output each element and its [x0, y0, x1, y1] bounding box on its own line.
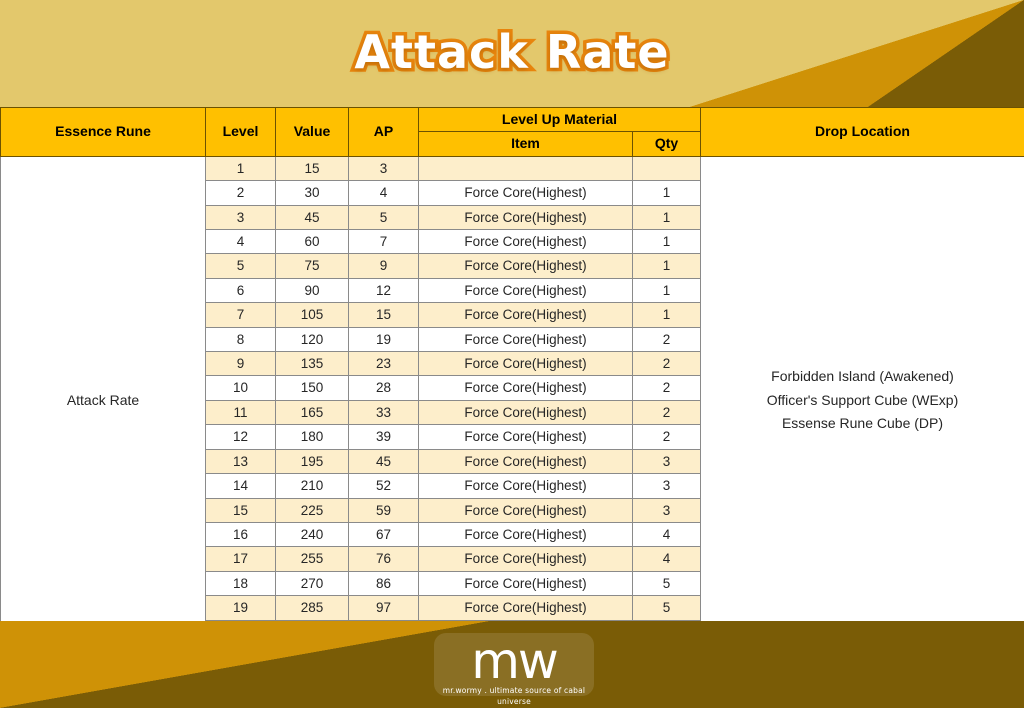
footer-logo-mark: mw	[434, 633, 594, 685]
cell-item: Force Core(Highest)	[419, 303, 633, 327]
cell-ap: 52	[349, 474, 419, 498]
cell-item: Force Core(Highest)	[419, 547, 633, 571]
footer-diagonal-accent	[0, 621, 490, 708]
cell-ap: 5	[349, 205, 419, 229]
cell-level: 17	[206, 547, 276, 571]
cell-qty: 2	[633, 352, 701, 376]
essence-rune-table: Essence Rune Level Value AP Level Up Mat…	[0, 107, 1024, 645]
cell-qty: 3	[633, 474, 701, 498]
col-header-drop-location: Drop Location	[701, 108, 1024, 157]
cell-qty: 2	[633, 400, 701, 424]
cell-qty: 4	[633, 522, 701, 546]
cell-value: 60	[276, 230, 349, 254]
cell-ap: 97	[349, 596, 419, 620]
cell-level: 15	[206, 498, 276, 522]
cell-ap: 86	[349, 571, 419, 595]
col-header-item: Item	[419, 132, 633, 156]
cell-value: 225	[276, 498, 349, 522]
cell-item: Force Core(Highest)	[419, 205, 633, 229]
cell-value: 270	[276, 571, 349, 595]
cell-value: 195	[276, 449, 349, 473]
table-header: Essence Rune Level Value AP Level Up Mat…	[1, 108, 1024, 157]
cell-level: 7	[206, 303, 276, 327]
cell-qty: 2	[633, 425, 701, 449]
cell-level: 9	[206, 352, 276, 376]
col-header-ap: AP	[349, 108, 419, 157]
cell-qty: 5	[633, 571, 701, 595]
drop-location-line: Officer's Support Cube (WExp)	[701, 389, 1024, 412]
cell-qty: 3	[633, 449, 701, 473]
cell-item: Force Core(Highest)	[419, 400, 633, 424]
cell-drop-location: Forbidden Island (Awakened)Officer's Sup…	[701, 156, 1024, 644]
cell-qty: 1	[633, 205, 701, 229]
cell-item: Force Core(Highest)	[419, 571, 633, 595]
cell-qty: 4	[633, 547, 701, 571]
cell-ap: 76	[349, 547, 419, 571]
cell-qty: 1	[633, 303, 701, 327]
cell-value: 210	[276, 474, 349, 498]
cell-level: 1	[206, 156, 276, 180]
cell-ap: 59	[349, 498, 419, 522]
col-header-qty: Qty	[633, 132, 701, 156]
cell-ap: 23	[349, 352, 419, 376]
cell-level: 14	[206, 474, 276, 498]
page-footer: mw mr.wormy . ultimate source of cabal u…	[0, 621, 1024, 708]
cell-value: 45	[276, 205, 349, 229]
cell-ap: 45	[349, 449, 419, 473]
cell-value: 165	[276, 400, 349, 424]
cell-level: 2	[206, 181, 276, 205]
cell-ap: 19	[349, 327, 419, 351]
cell-level: 18	[206, 571, 276, 595]
cell-level: 5	[206, 254, 276, 278]
cell-level: 12	[206, 425, 276, 449]
cell-item: Force Core(Highest)	[419, 181, 633, 205]
table-row: Attack Rate1153Forbidden Island (Awakene…	[1, 156, 1024, 180]
page-root: mw mr.wormy . ultimate source of cabal u…	[0, 0, 1024, 708]
cell-qty: 5	[633, 596, 701, 620]
cell-ap: 39	[349, 425, 419, 449]
cell-ap: 28	[349, 376, 419, 400]
table-container: Essence Rune Level Value AP Level Up Mat…	[0, 107, 1024, 621]
cell-ap: 15	[349, 303, 419, 327]
cell-level: 10	[206, 376, 276, 400]
cell-ap: 12	[349, 278, 419, 302]
cell-value: 255	[276, 547, 349, 571]
page-title-container: Attack Rate	[0, 25, 1024, 90]
col-header-level-up-material: Level Up Material	[419, 108, 701, 132]
cell-level: 3	[206, 205, 276, 229]
cell-item: Force Core(Highest)	[419, 352, 633, 376]
cell-level: 19	[206, 596, 276, 620]
cell-ap: 67	[349, 522, 419, 546]
col-header-level: Level	[206, 108, 276, 157]
cell-level: 16	[206, 522, 276, 546]
cell-qty: 1	[633, 181, 701, 205]
footer-logo: mw mr.wormy . ultimate source of cabal u…	[434, 633, 594, 696]
cell-item: Force Core(Highest)	[419, 376, 633, 400]
drop-location-line: Forbidden Island (Awakened)	[701, 365, 1024, 388]
cell-ap: 3	[349, 156, 419, 180]
cell-value: 15	[276, 156, 349, 180]
cell-ap: 4	[349, 181, 419, 205]
drop-location-line: Essense Rune Cube (DP)	[701, 412, 1024, 435]
cell-item: Force Core(Highest)	[419, 425, 633, 449]
cell-item: Force Core(Highest)	[419, 474, 633, 498]
col-header-essence-rune: Essence Rune	[1, 108, 206, 157]
header-row-1: Essence Rune Level Value AP Level Up Mat…	[1, 108, 1024, 132]
cell-value: 150	[276, 376, 349, 400]
page-title: Attack Rate	[354, 25, 669, 79]
cell-level: 11	[206, 400, 276, 424]
cell-item: Force Core(Highest)	[419, 596, 633, 620]
cell-qty: 3	[633, 498, 701, 522]
cell-ap: 33	[349, 400, 419, 424]
cell-value: 105	[276, 303, 349, 327]
cell-value: 90	[276, 278, 349, 302]
cell-qty: 1	[633, 230, 701, 254]
footer-logo-tagline: mr.wormy . ultimate source of cabal univ…	[434, 685, 594, 707]
cell-value: 240	[276, 522, 349, 546]
cell-item	[419, 156, 633, 180]
cell-qty: 2	[633, 327, 701, 351]
cell-value: 120	[276, 327, 349, 351]
cell-level: 13	[206, 449, 276, 473]
cell-qty: 1	[633, 278, 701, 302]
cell-ap: 7	[349, 230, 419, 254]
cell-item: Force Core(Highest)	[419, 498, 633, 522]
table-body: Attack Rate1153Forbidden Island (Awakene…	[1, 156, 1024, 644]
cell-value: 30	[276, 181, 349, 205]
cell-value: 180	[276, 425, 349, 449]
cell-item: Force Core(Highest)	[419, 327, 633, 351]
cell-item: Force Core(Highest)	[419, 230, 633, 254]
col-header-value: Value	[276, 108, 349, 157]
cell-ap: 9	[349, 254, 419, 278]
cell-qty: 2	[633, 376, 701, 400]
cell-qty	[633, 156, 701, 180]
cell-item: Force Core(Highest)	[419, 278, 633, 302]
cell-value: 75	[276, 254, 349, 278]
cell-item: Force Core(Highest)	[419, 254, 633, 278]
cell-value: 285	[276, 596, 349, 620]
cell-level: 8	[206, 327, 276, 351]
cell-level: 6	[206, 278, 276, 302]
cell-item: Force Core(Highest)	[419, 522, 633, 546]
cell-qty: 1	[633, 254, 701, 278]
cell-essence-rune-name: Attack Rate	[1, 156, 206, 644]
cell-level: 4	[206, 230, 276, 254]
cell-item: Force Core(Highest)	[419, 449, 633, 473]
cell-value: 135	[276, 352, 349, 376]
